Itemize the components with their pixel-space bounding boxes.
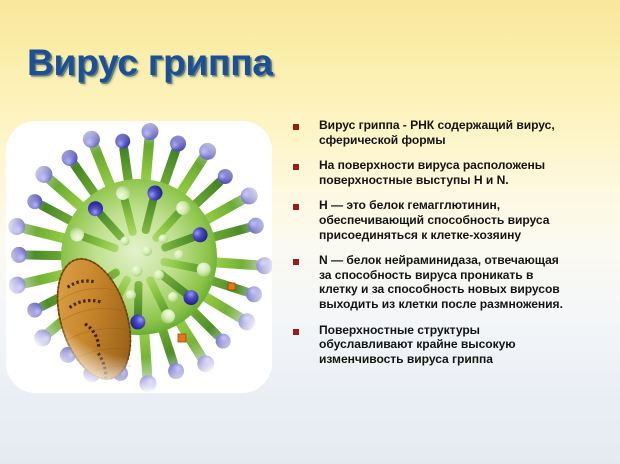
- page-title: Вирус гриппа: [27, 42, 273, 84]
- bullet-square-icon: [293, 329, 299, 335]
- bullet-square-icon: [293, 124, 299, 130]
- list-item: Поверхностные структуры обуславливают кр…: [293, 323, 615, 367]
- bullet-square-icon: [293, 259, 299, 265]
- bullet-list: Вирус гриппа - РНК содержащий вирус, сфе…: [293, 118, 615, 377]
- slide-canvas: Вирус гриппа: [0, 0, 620, 464]
- bullet-square-icon: [293, 204, 299, 210]
- influenza-virus-icon: [6, 121, 272, 393]
- bullet-square-icon: [293, 164, 299, 170]
- bullet-text: H — это белок гемагглютинин, обеспечиваю…: [319, 198, 615, 242]
- list-item: N — белок нейраминидаза, отвечающая за с…: [293, 253, 615, 311]
- bullet-text: Вирус гриппа - РНК содержащий вирус, сфе…: [319, 118, 615, 147]
- list-item: H — это белок гемагглютинин, обеспечиваю…: [293, 198, 615, 242]
- bullet-text: На поверхности вируса расположены поверх…: [319, 158, 615, 187]
- list-item: Вирус гриппа - РНК содержащий вирус, сфе…: [293, 118, 615, 147]
- virus-illustration-panel: [6, 121, 272, 393]
- bullet-text: Поверхностные структуры обуславливают кр…: [319, 323, 615, 367]
- bullet-text: N — белок нейраминидаза, отвечающая за с…: [319, 253, 615, 311]
- list-item: На поверхности вируса расположены поверх…: [293, 158, 615, 187]
